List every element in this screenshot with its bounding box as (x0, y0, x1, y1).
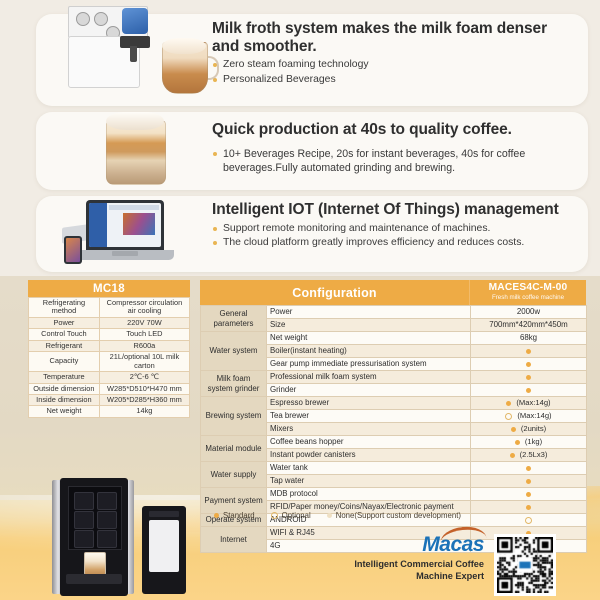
legend-std-icon (214, 513, 219, 518)
feature-bullet-list: Zero steam foaming technology Personaliz… (212, 58, 574, 86)
status-std-icon (526, 492, 531, 497)
feature-title: Milk froth system makes the milk foam de… (212, 20, 574, 55)
status-std-icon (526, 375, 531, 380)
config-item-label: Mixers (267, 423, 471, 436)
status-std-icon (526, 388, 531, 393)
spec-row-key: Temperature (29, 372, 100, 383)
status-std-icon (510, 453, 515, 458)
config-value-text: 2000w (517, 307, 540, 316)
config-item-label: Tap water (267, 475, 471, 488)
status-std-icon (506, 401, 511, 406)
macas-logo: Macas (422, 534, 484, 555)
config-item-value: (2units) (471, 423, 587, 436)
spec-row: Capacity21L/optional 10L milk carton (29, 352, 190, 372)
spec-row-key: Refrigerating method (29, 298, 100, 318)
status-std-icon (526, 505, 531, 510)
brand-block: Macas Intelligent Commercial Coffee Mach… (352, 534, 484, 582)
laptop-iot-dashboard-photo (62, 198, 186, 272)
config-item-label: Espresso brewer (267, 397, 471, 410)
phone-device (64, 236, 82, 264)
config-item-value (471, 488, 587, 501)
config-item-label: Water tank (267, 462, 471, 475)
config-row: Brewing systemEspresso brewer(Max:14g) (201, 397, 587, 410)
spec-row-value: W285*D510*H470 mm (99, 383, 189, 394)
config-item-value (471, 345, 587, 358)
feature-bullet: Zero steam foaming technology (212, 58, 574, 71)
config-item-value (471, 358, 587, 371)
config-row: Material moduleCoffee beans hopper(1kg) (201, 436, 587, 449)
config-item-value (471, 371, 587, 384)
config-item-label: Grinder (267, 384, 471, 397)
config-group-label: Brewing system (201, 397, 267, 436)
config-row: Water supplyWater tank (201, 462, 587, 475)
model-name: MACES4C-M-00 (489, 283, 568, 294)
feature-bullet-list: 10+ Beverages Recipe, 20s for instant be… (212, 147, 574, 176)
status-std-icon (526, 466, 531, 471)
config-item-label: Net weight (267, 332, 471, 345)
feature-bullet: Support remote monitoring and maintenanc… (212, 222, 574, 235)
spec-row-value: 14kg (99, 406, 189, 417)
legend-non-icon (327, 513, 332, 518)
spec-row: Temperature2℃-6 ℃ (29, 372, 190, 383)
config-item-label: MDB protocol (267, 488, 471, 501)
config-group-label: Material module (201, 436, 267, 462)
spec-row: Outside dimensionW285*D510*H470 mm (29, 383, 190, 394)
status-std-icon (511, 427, 516, 432)
spec-row: Power220V 70W (29, 317, 190, 328)
config-item-value: (Max:14g) (471, 397, 587, 410)
config-item-value (471, 384, 587, 397)
spec-row-key: Net weight (29, 406, 100, 417)
config-item-value: (Max:14g) (471, 410, 587, 423)
config-item-label: Professional milk foam system (267, 371, 471, 384)
config-item-value (471, 475, 587, 488)
config-item-label: Size (267, 319, 471, 332)
config-item-value (471, 514, 587, 527)
spec-row-value: 21L/optional 10L milk carton (99, 352, 189, 372)
config-value-text: (Max:14g) (517, 411, 551, 420)
status-std-icon (526, 479, 531, 484)
spec-table-mc18: MC18 Refrigerating methodCompressor circ… (28, 280, 190, 418)
config-value-text: (2units) (521, 424, 546, 433)
config-item-label: Power (267, 306, 471, 319)
feature-bullet: Personalized Beverages (212, 73, 574, 86)
spec-row: Refrigerating methodCompressor circulati… (29, 298, 190, 318)
spec-row-value: 220V 70W (99, 317, 189, 328)
config-value-text: 700mm*420mm*450m (489, 320, 568, 329)
poster-page: Milk froth system makes the milk foam de… (0, 0, 600, 600)
status-opt-icon (525, 517, 532, 524)
config-row: General parametersPower2000w (201, 306, 587, 319)
config-group-label: General parameters (201, 306, 267, 332)
main-coffee-machine (60, 478, 128, 596)
config-row: Water systemNet weight68kg (201, 332, 587, 345)
config-row: Payment systemMDB protocol (201, 488, 587, 501)
legend-label: Standard (223, 511, 255, 520)
config-item-value (471, 501, 587, 514)
config-group-label: Water system (201, 332, 267, 371)
config-value-text: (1kg) (525, 437, 542, 446)
legend-label: Optional (282, 511, 311, 520)
feature-title: Quick production at 40s to quality coffe… (212, 121, 574, 139)
legend-label: None(Support custom development) (336, 511, 461, 520)
qr-code[interactable] (494, 534, 556, 596)
coffee-machine-photos (46, 478, 196, 598)
spec-row-value: W205*D285*H360 mm (99, 394, 189, 405)
spec-row-key: Refrigerant (29, 340, 100, 351)
config-item-value: (1kg) (471, 436, 587, 449)
legend: StandardOptionalNone(Support custom deve… (214, 511, 461, 520)
spec-table: Refrigerating methodCompressor circulati… (28, 297, 190, 418)
config-item-value: (2.5Lx3) (471, 449, 587, 462)
spec-row: Control TouchTouch LED (29, 329, 190, 340)
config-group-label: Payment system (201, 488, 267, 514)
config-item-value (471, 462, 587, 475)
blue-pump-part (122, 8, 148, 34)
brand-tagline: Intelligent Commercial Coffee Machine Ex… (352, 559, 484, 582)
latte-cup-photo (158, 36, 212, 100)
config-row: Milk foam system grinderProfessional mil… (201, 371, 587, 384)
config-group-label: Internet (201, 527, 267, 553)
config-item-value: 68kg (471, 332, 587, 345)
qr-code-canvas (497, 537, 553, 593)
status-std-icon (515, 440, 520, 445)
layered-latte-glass-photo (96, 112, 174, 188)
legend-item: Optional (271, 511, 311, 520)
spec-row: Net weight14kg (29, 406, 190, 417)
config-item-label: Boiler(instant heating) (267, 345, 471, 358)
spec-row-value: Compressor circulation air cooling (99, 298, 189, 318)
status-std-icon (526, 349, 531, 354)
legend-item: Standard (214, 511, 255, 520)
feature-bullet: 10+ Beverages Recipe, 20s for instant be… (212, 147, 574, 176)
config-item-label: Coffee beans hopper (267, 436, 471, 449)
configuration-title: Configuration (200, 280, 469, 305)
config-item-label: Instant powder canisters (267, 449, 471, 462)
spec-row-key: Control Touch (29, 329, 100, 340)
config-item-value: 700mm*420mm*450m (471, 319, 587, 332)
config-item-label: Tea brewer (267, 410, 471, 423)
config-value-text: (Max:14g) (516, 398, 550, 407)
model-subtitle: Fresh milk coffee machine (492, 294, 564, 301)
feature-bullet-list: Support remote monitoring and maintenanc… (212, 222, 574, 250)
spec-row-value: 2℃-6 ℃ (99, 372, 189, 383)
config-group-label: Milk foam system grinder (201, 371, 267, 397)
brand-tagline-line1: Intelligent Commercial Coffee (352, 559, 484, 571)
config-value-text: 68kg (520, 333, 537, 342)
legend-item: None(Support custom development) (327, 511, 461, 520)
config-group-label: Water supply (201, 462, 267, 488)
spec-row: Inside dimensionW205*D285*H360 mm (29, 394, 190, 405)
feature-bullet: The cloud platform greatly improves effi… (212, 236, 574, 249)
model-badge: MACES4C-M-00 Fresh milk coffee machine (469, 280, 586, 305)
config-item-label: Gear pump immediate pressurisation syste… (267, 358, 471, 371)
config-value-text: (2.5Lx3) (520, 450, 548, 459)
spec-row-value: Touch LED (99, 329, 189, 340)
legend-opt-icon (271, 512, 278, 519)
spec-row-key: Capacity (29, 352, 100, 372)
feature-title: Intelligent IOT (Internet Of Things) man… (212, 201, 574, 219)
config-item-value: 2000w (471, 306, 587, 319)
spec-row-value: R600a (99, 340, 189, 351)
spec-row-key: Outside dimension (29, 383, 100, 394)
spec-row-key: Inside dimension (29, 394, 100, 405)
milk-fridge-unit (142, 506, 186, 594)
brand-tagline-line2: Machine Expert (352, 571, 484, 583)
status-opt-icon (505, 413, 512, 420)
spec-table-title: MC18 (28, 280, 190, 297)
spec-row: RefrigerantR600a (29, 340, 190, 351)
configuration-header: Configuration MACES4C-M-00 Fresh milk co… (200, 280, 586, 305)
status-std-icon (526, 362, 531, 367)
spec-row-key: Power (29, 317, 100, 328)
